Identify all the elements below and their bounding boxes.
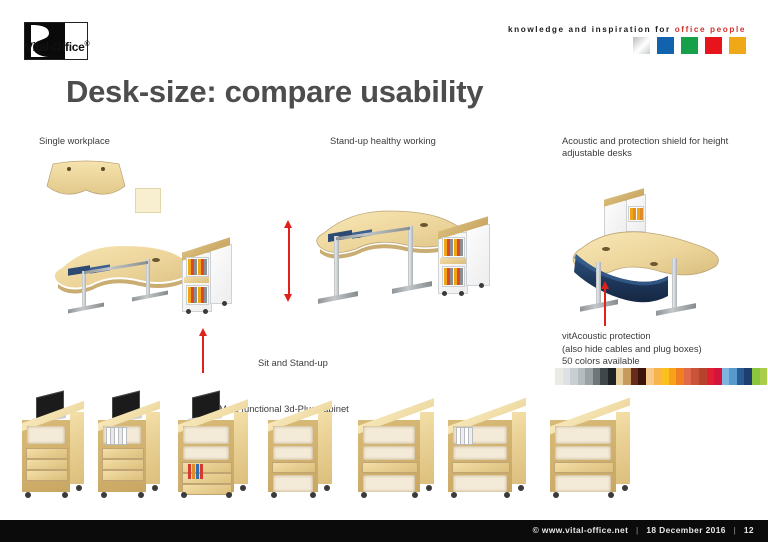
color-swatch-11 — [631, 368, 639, 385]
caster-back — [622, 485, 628, 491]
desk3-leg-right-column — [672, 258, 677, 310]
file-folder — [188, 464, 191, 479]
caster-right — [62, 492, 68, 498]
caster-left — [451, 492, 457, 498]
desk1-leg-left-foot — [68, 303, 104, 314]
color-swatch-22 — [714, 368, 722, 385]
color-swatch-14 — [654, 368, 662, 385]
cabinet2-caster-left — [442, 291, 447, 296]
cabinet-open-shelf — [273, 426, 313, 444]
caster-back — [152, 485, 158, 491]
caster-left — [181, 492, 187, 498]
tagline-main: knowledge and inspiration for — [508, 25, 671, 34]
desk-top-view-accessory — [135, 188, 161, 213]
swatch-orange — [729, 37, 746, 54]
file-folder — [196, 464, 199, 479]
color-options-strip — [555, 368, 767, 385]
brand-swatch-row — [633, 37, 746, 54]
acoustic-shield-panel — [568, 248, 678, 308]
vitacoustic-line-3: 50 colors available — [562, 355, 702, 368]
cabinet-second-shelf — [363, 446, 415, 460]
cabinet-lower-niche — [555, 475, 611, 492]
color-swatch-25 — [737, 368, 745, 385]
cabinet-drawer — [102, 470, 144, 481]
file-folder — [192, 464, 195, 479]
caster-left — [25, 492, 31, 498]
cabinet1-caster-right — [203, 309, 208, 314]
cabinet2-upper-compartment — [442, 237, 465, 258]
color-swatch-19 — [691, 368, 699, 385]
caster-left — [271, 492, 277, 498]
caption-single-workplace: Single workplace — [39, 135, 110, 147]
caption-acoustic-shield: Acoustic and protection shield for heigh… — [562, 135, 762, 159]
caster-right — [608, 492, 614, 498]
desk-top-view-illustration — [43, 160, 129, 202]
logo-wordmark: Vital-Office® — [25, 40, 89, 54]
cabinet-second-shelf — [555, 446, 611, 460]
cabinet-open-shelf — [363, 426, 415, 444]
cabinet1-caster-left — [186, 309, 191, 314]
color-swatch-18 — [684, 368, 692, 385]
page-title: Desk-size: compare usability — [66, 74, 483, 110]
caster-back — [76, 485, 82, 491]
color-swatch-12 — [638, 368, 646, 385]
cabinet-drawer — [182, 484, 232, 495]
cabinet1-body-side — [210, 244, 232, 304]
cabinet-side-panel — [234, 412, 248, 484]
file-folder — [200, 464, 203, 479]
footer-sep-2: | — [734, 525, 737, 535]
color-swatch-9 — [616, 368, 624, 385]
color-swatch-26 — [744, 368, 752, 385]
vitacoustic-line-2: (also hide cables and plug boxes) — [562, 343, 702, 356]
cabinet-lower-niche — [273, 475, 313, 492]
color-swatch-3 — [570, 368, 578, 385]
cabinet-open-shelf — [555, 426, 611, 444]
desk1-leg-left-column — [82, 271, 86, 309]
swatch-blue — [657, 37, 674, 54]
cabinet3-compartment — [628, 206, 644, 222]
logo-word-text: Vital-Office — [25, 40, 85, 54]
desk2-leg-right-column — [408, 226, 413, 288]
color-swatch-16 — [669, 368, 677, 385]
cabinet-side-panel — [616, 412, 630, 484]
cabinet-side-panel — [318, 412, 332, 484]
color-swatch-2 — [563, 368, 571, 385]
cabinet1-upper-compartment — [186, 257, 209, 277]
color-swatch-8 — [608, 368, 616, 385]
cabinet-drawer — [554, 462, 614, 473]
cabinet-drawer — [26, 448, 68, 459]
cabinet-open-shelf — [27, 426, 65, 444]
caster-left — [101, 492, 107, 498]
file-binder — [122, 427, 127, 445]
color-swatch-13 — [646, 368, 654, 385]
footer-sep-1: | — [636, 525, 639, 535]
color-swatch-27 — [752, 368, 760, 385]
cabinet-drawer — [26, 470, 68, 481]
cabinet1-middle-shelf — [184, 277, 209, 283]
cabinet-lower-niche — [453, 475, 507, 492]
caster-left — [553, 492, 559, 498]
cabinet-second-shelf — [453, 446, 507, 460]
color-swatch-5 — [585, 368, 593, 385]
cabinet-second-shelf — [273, 446, 313, 460]
caster-back — [324, 485, 330, 491]
footer-text: © www.vital-office.net | 18 December 201… — [533, 525, 754, 535]
cabinet-side-panel — [146, 412, 160, 484]
caster-back — [518, 485, 524, 491]
brand-tagline: knowledge and inspiration for office peo… — [508, 25, 746, 34]
vitacoustic-line-1: vitAcoustic protection — [562, 330, 702, 343]
cabinet2-middle-shelf — [440, 258, 466, 264]
swatch-green — [681, 37, 698, 54]
cabinet-open-shelf — [183, 426, 229, 444]
cabinet1-lower-compartment — [186, 285, 209, 305]
caster-back — [240, 485, 246, 491]
cabinet-drawer — [452, 462, 510, 473]
color-swatch-24 — [729, 368, 737, 385]
desk2-leg-left-column — [334, 236, 339, 298]
color-swatch-10 — [623, 368, 631, 385]
cabinet2-lower-compartment — [442, 266, 465, 287]
cabinet-side-panel — [512, 412, 526, 484]
cabinet-side-panel — [70, 412, 84, 484]
swatch-red — [705, 37, 722, 54]
logo-registered-mark: ® — [85, 41, 90, 48]
cabinet-second-shelf — [183, 446, 229, 460]
file-binder — [468, 427, 473, 445]
color-swatch-6 — [593, 368, 601, 385]
cabinet-drawer — [102, 459, 144, 470]
caster-right — [310, 492, 316, 498]
color-swatch-7 — [600, 368, 608, 385]
footer-copyright: © — [533, 525, 540, 535]
color-swatch-23 — [722, 368, 730, 385]
color-swatch-28 — [760, 368, 768, 385]
cabinet-drawer — [26, 459, 68, 470]
cabinet-drawer — [102, 448, 144, 459]
footer-site: www.vital-office.net — [542, 525, 628, 535]
color-swatch-1 — [555, 368, 563, 385]
desk1-leg-right-column — [146, 259, 150, 297]
cabinet-lower-niche — [363, 475, 415, 492]
caster-right — [504, 492, 510, 498]
slide-canvas: Vital-Office® knowledge and inspiration … — [0, 0, 768, 542]
tagline-accent: office people — [675, 25, 746, 34]
caption-sit-and-stand-up: Sit and Stand-up — [258, 357, 328, 369]
color-swatch-17 — [676, 368, 684, 385]
footer-bar: © www.vital-office.net | 18 December 201… — [0, 520, 768, 542]
footer-page-number: 12 — [744, 525, 754, 535]
vitacoustic-note: vitAcoustic protection (also hide cables… — [562, 330, 702, 368]
cabinet2-caster-right — [459, 291, 464, 296]
cabinet1-caster-back — [222, 301, 227, 306]
color-swatch-15 — [661, 368, 669, 385]
footer-date: 18 December 2016 — [646, 525, 726, 535]
caster-left — [361, 492, 367, 498]
caster-right — [412, 492, 418, 498]
cabinet2-body-side — [466, 224, 490, 286]
color-swatch-4 — [578, 368, 586, 385]
swatch-silver — [633, 37, 650, 54]
caster-right — [226, 492, 232, 498]
cabinet-drawer — [362, 462, 418, 473]
caption-stand-up: Stand-up healthy working — [330, 135, 436, 147]
caster-back — [426, 485, 432, 491]
color-swatch-21 — [707, 368, 715, 385]
cabinet-drawer — [272, 462, 316, 473]
cabinet-side-panel — [420, 412, 434, 484]
color-swatch-20 — [699, 368, 707, 385]
caster-right — [138, 492, 144, 498]
cabinet2-caster-back — [479, 283, 484, 288]
